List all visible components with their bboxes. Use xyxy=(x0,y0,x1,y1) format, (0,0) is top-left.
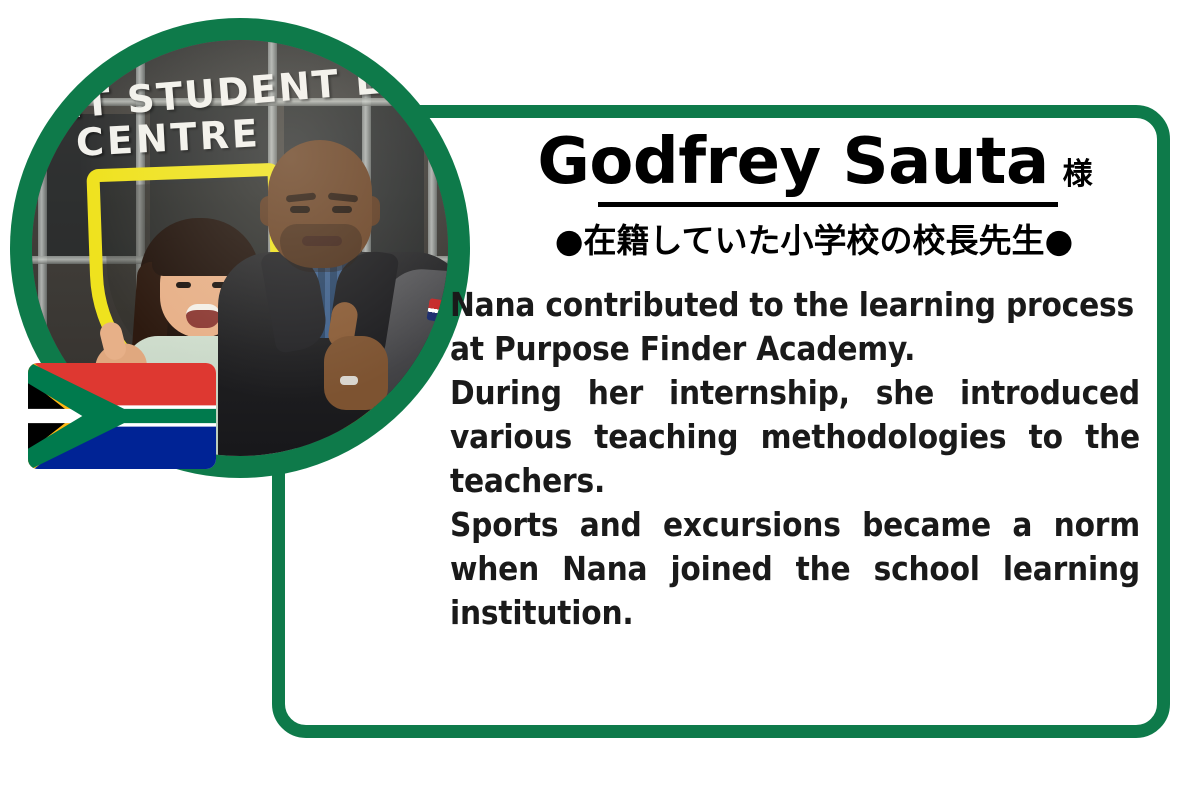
person-man xyxy=(228,140,448,456)
body-word: became xyxy=(862,503,991,547)
name-honorific: 様 xyxy=(1063,160,1093,196)
body-word: her xyxy=(588,371,643,415)
body-word: teaching xyxy=(594,415,738,459)
woman-eye-left xyxy=(176,282,191,288)
man-mouth xyxy=(302,236,342,246)
south-africa-flag-icon xyxy=(28,363,216,469)
body-word: a xyxy=(1012,503,1032,547)
testimonial-body: Nana contributed to the learning process… xyxy=(450,283,1140,635)
man-jacket-patch xyxy=(426,298,448,324)
body-word: the xyxy=(1085,415,1140,459)
body-word: school xyxy=(874,547,980,591)
body-line: at Purpose Finder Academy. xyxy=(450,327,1140,371)
body-word: when xyxy=(450,547,539,591)
body-word: methodologies xyxy=(761,415,1007,459)
man-ring xyxy=(340,376,358,385)
man-hand xyxy=(324,336,388,410)
body-word: During xyxy=(450,371,562,415)
name-row: Godfrey Sauta 様 xyxy=(450,130,1162,196)
testimonial-content: Godfrey Sauta 様 ●在籍していた小学校の校長先生● Nana co… xyxy=(450,130,1162,635)
name-underline xyxy=(598,202,1058,207)
body-word: the xyxy=(796,547,851,591)
body-word: excursions xyxy=(663,503,841,547)
testimonial-card: HT STUDENT LE CENTRE xyxy=(0,0,1200,800)
body-word: internship, xyxy=(669,371,850,415)
woman-mouth xyxy=(186,304,220,328)
man-eye-right xyxy=(332,206,352,213)
body-line: various teaching methodologies to the xyxy=(450,415,1140,459)
body-line: Nana contributed to the learning process xyxy=(450,283,1140,327)
man-eye-left xyxy=(290,206,310,213)
body-line: when Nana joined the school learning xyxy=(450,547,1140,591)
body-line: teachers. xyxy=(450,459,1140,503)
body-word: to xyxy=(1029,415,1063,459)
body-word: Sports xyxy=(450,503,558,547)
body-word: various xyxy=(450,415,572,459)
flag-svg xyxy=(28,363,216,469)
person-name: Godfrey Sauta xyxy=(537,130,1048,196)
role-subtitle: ●在籍していた小学校の校長先生● xyxy=(450,221,1162,261)
body-word: introduced xyxy=(960,371,1140,415)
body-word: learning xyxy=(1003,547,1140,591)
man-beard xyxy=(280,224,362,272)
body-word: and xyxy=(580,503,642,547)
body-line: institution. xyxy=(450,591,1140,635)
body-word: norm xyxy=(1054,503,1140,547)
body-line: Sports and excursions became a norm xyxy=(450,503,1140,547)
body-word: she xyxy=(876,371,934,415)
body-word: joined xyxy=(670,547,772,591)
body-line: During her internship, she introduced xyxy=(450,371,1140,415)
body-word: Nana xyxy=(562,547,647,591)
